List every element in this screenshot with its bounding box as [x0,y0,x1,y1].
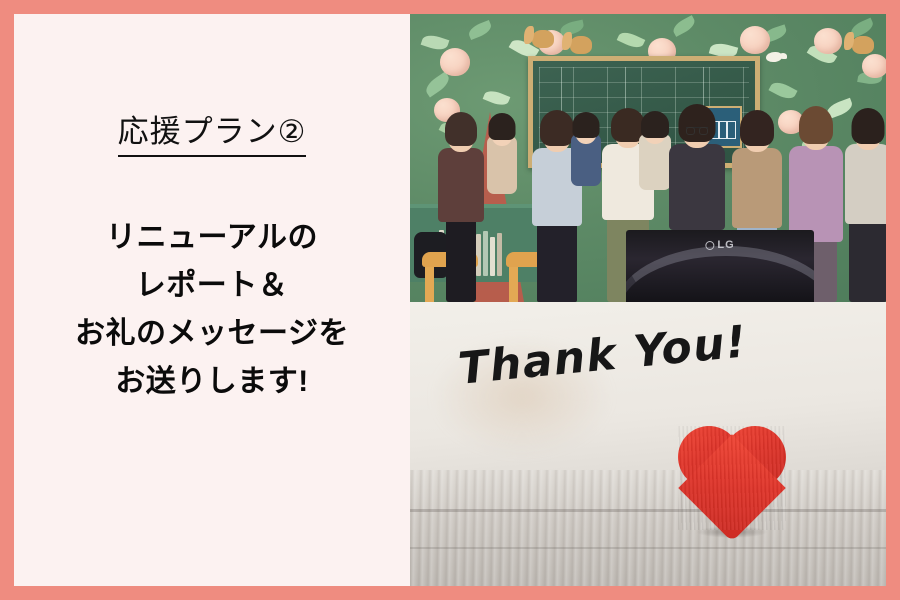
person-body [789,146,843,242]
person [434,102,488,302]
wood-surface [410,470,886,586]
television: LG [626,230,814,302]
child-hair [489,113,516,140]
peach-icon [740,26,770,54]
text-panel: 応援プラン② リニューアルの レポート＆ お礼のメッセージを お送りします! [14,14,410,586]
child-hair [573,112,600,138]
peach-icon [862,54,886,78]
photo-column: LG Thank You! [410,14,886,586]
body-line-2: レポート＆ [14,262,410,310]
body-line-4: お送りします! [14,358,410,406]
plan-title: 応援プラン② [14,106,410,157]
tv-brand-text: LG [717,239,734,251]
person-hair [679,104,716,142]
person-hair [799,106,833,144]
body-text-block: リニューアルの レポート＆ お礼のメッセージを お送りします! [14,214,410,406]
peach-icon [814,28,842,54]
lg-circle-icon [705,241,714,250]
child [568,108,604,186]
heart-icon [678,426,786,530]
person-hair [852,108,885,144]
squirrel-icon [852,36,874,54]
person [844,86,886,302]
person-body [845,144,886,224]
book-icon [497,233,502,276]
person-legs [446,216,476,302]
body-line-1: リニューアルの [14,214,410,262]
peach-icon [440,48,470,76]
person-legs [537,220,577,302]
child [484,110,520,194]
plan-title-text: 応援プラン② [118,106,307,157]
child-hair [641,111,669,138]
person-body [438,148,484,222]
thanks-photo: Thank You! [410,302,886,586]
person-hair [740,110,774,146]
slide-inner: 応援プラン② リニューアルの レポート＆ お礼のメッセージを お送りします! [14,14,886,586]
person-hair [445,112,477,146]
person-legs [849,218,886,302]
body-line-3: お礼のメッセージを [14,310,410,358]
slide-frame: 応援プラン② リニューアルの レポート＆ お礼のメッセージを お送りします! [0,0,900,600]
person-body [669,144,725,230]
person-body [732,148,782,228]
book-icon [490,237,495,276]
tv-reflection [626,246,814,302]
glasses-icon [686,127,708,136]
squirrel-icon [532,30,554,48]
squirrel-icon [570,36,592,54]
tv-brand-logo: LG [705,239,734,251]
group-photo: LG [410,14,886,302]
